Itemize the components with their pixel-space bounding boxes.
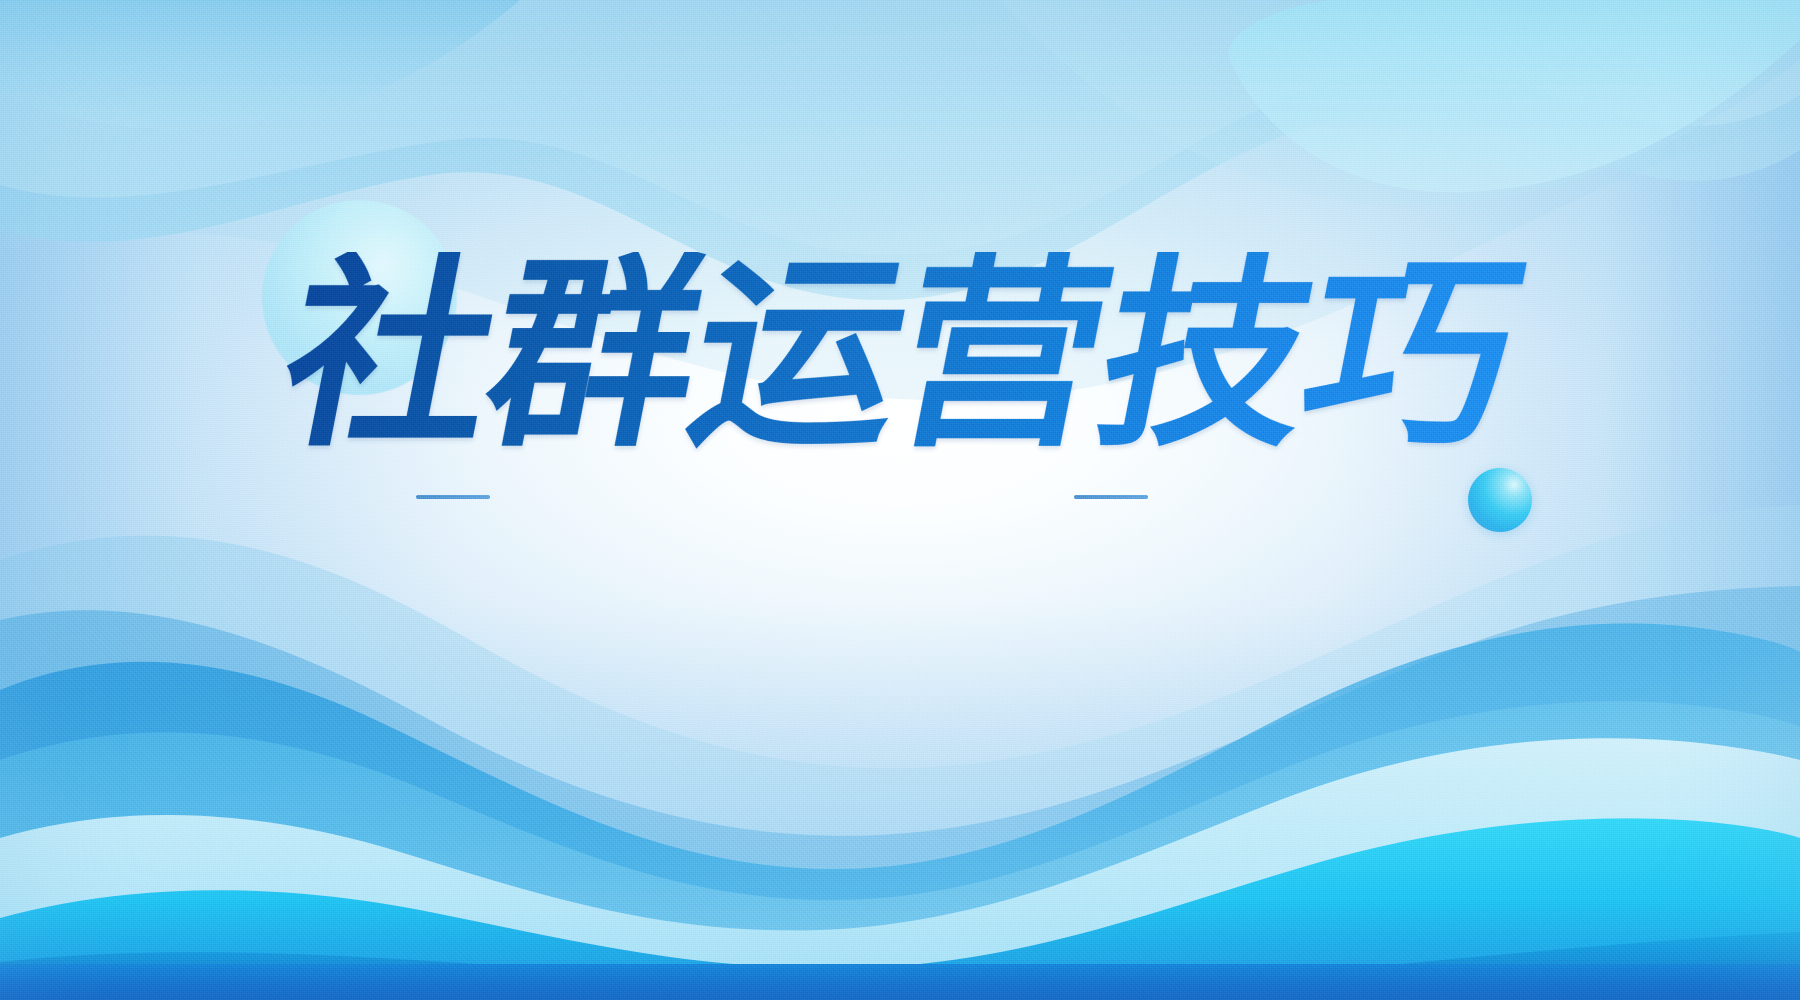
dash-right-decoration: [1074, 495, 1148, 499]
dash-left-decoration: [416, 495, 490, 499]
sphere-decoration: [1468, 468, 1532, 532]
page-title: 社群运营技巧: [268, 252, 1532, 458]
title-block: 社群运营技巧: [0, 252, 1800, 458]
poster-canvas: 社群运营技巧: [0, 0, 1800, 1000]
bottom-accent-bar: [0, 964, 1800, 1000]
